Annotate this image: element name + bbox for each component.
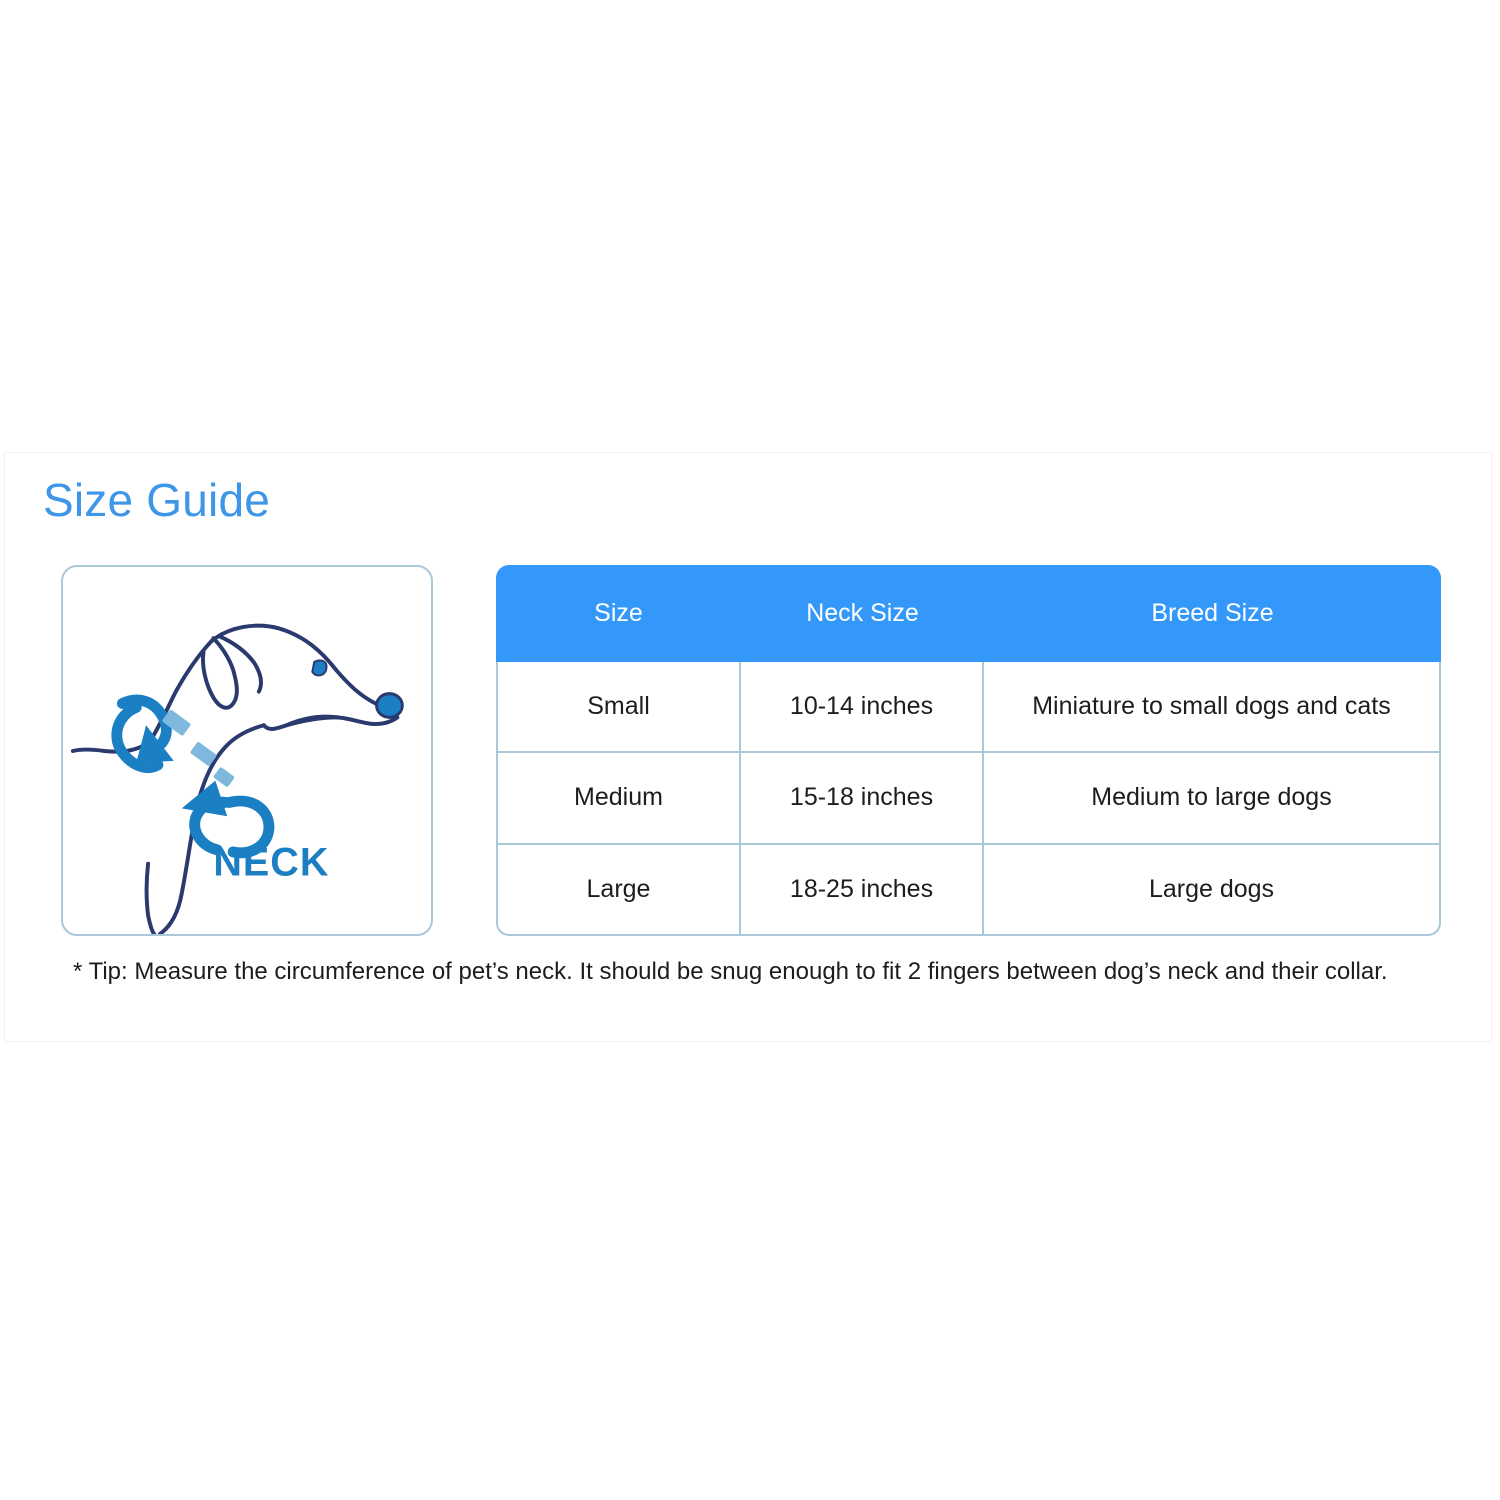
table-header: Size Neck Size Breed Size: [496, 565, 1441, 662]
column-header-breed-size: Breed Size: [984, 565, 1441, 662]
measurement-tip-text: * Tip: Measure the circumference of pet’…: [73, 958, 1453, 987]
table-body: Small 10-14 inches Miniature to small do…: [496, 662, 1441, 936]
table-row: Small 10-14 inches Miniature to small do…: [496, 662, 1441, 753]
cell-neck: 18-25 inches: [741, 845, 984, 936]
dog-neck-measurement-icon: NECK: [63, 567, 431, 934]
cell-breed: Miniature to small dogs and cats: [984, 662, 1441, 753]
dog-eye-icon: [312, 660, 326, 675]
cell-size: Small: [496, 662, 741, 753]
cell-breed: Large dogs: [984, 845, 1441, 936]
page-title: Size Guide: [43, 477, 270, 523]
size-table: Size Neck Size Breed Size Small 10-14 in…: [496, 565, 1441, 936]
cell-size: Large: [496, 845, 741, 936]
size-guide-panel: Size Guide: [4, 452, 1492, 1042]
cell-breed: Medium to large dogs: [984, 753, 1441, 844]
table-row: Medium 15-18 inches Medium to large dogs: [496, 753, 1441, 844]
cell-neck: 15-18 inches: [741, 753, 984, 844]
cell-neck: 10-14 inches: [741, 662, 984, 753]
size-table-container: Size Neck Size Breed Size Small 10-14 in…: [496, 565, 1441, 936]
column-header-neck-size: Neck Size: [741, 565, 984, 662]
neck-label: NECK: [213, 841, 329, 885]
table-header-row: Size Neck Size Breed Size: [496, 565, 1441, 662]
column-header-size: Size: [496, 565, 741, 662]
table-row: Large 18-25 inches Large dogs: [496, 845, 1441, 936]
dog-neck-illustration-card: NECK: [61, 565, 433, 936]
cell-size: Medium: [496, 753, 741, 844]
dog-nose-icon: [377, 694, 403, 718]
